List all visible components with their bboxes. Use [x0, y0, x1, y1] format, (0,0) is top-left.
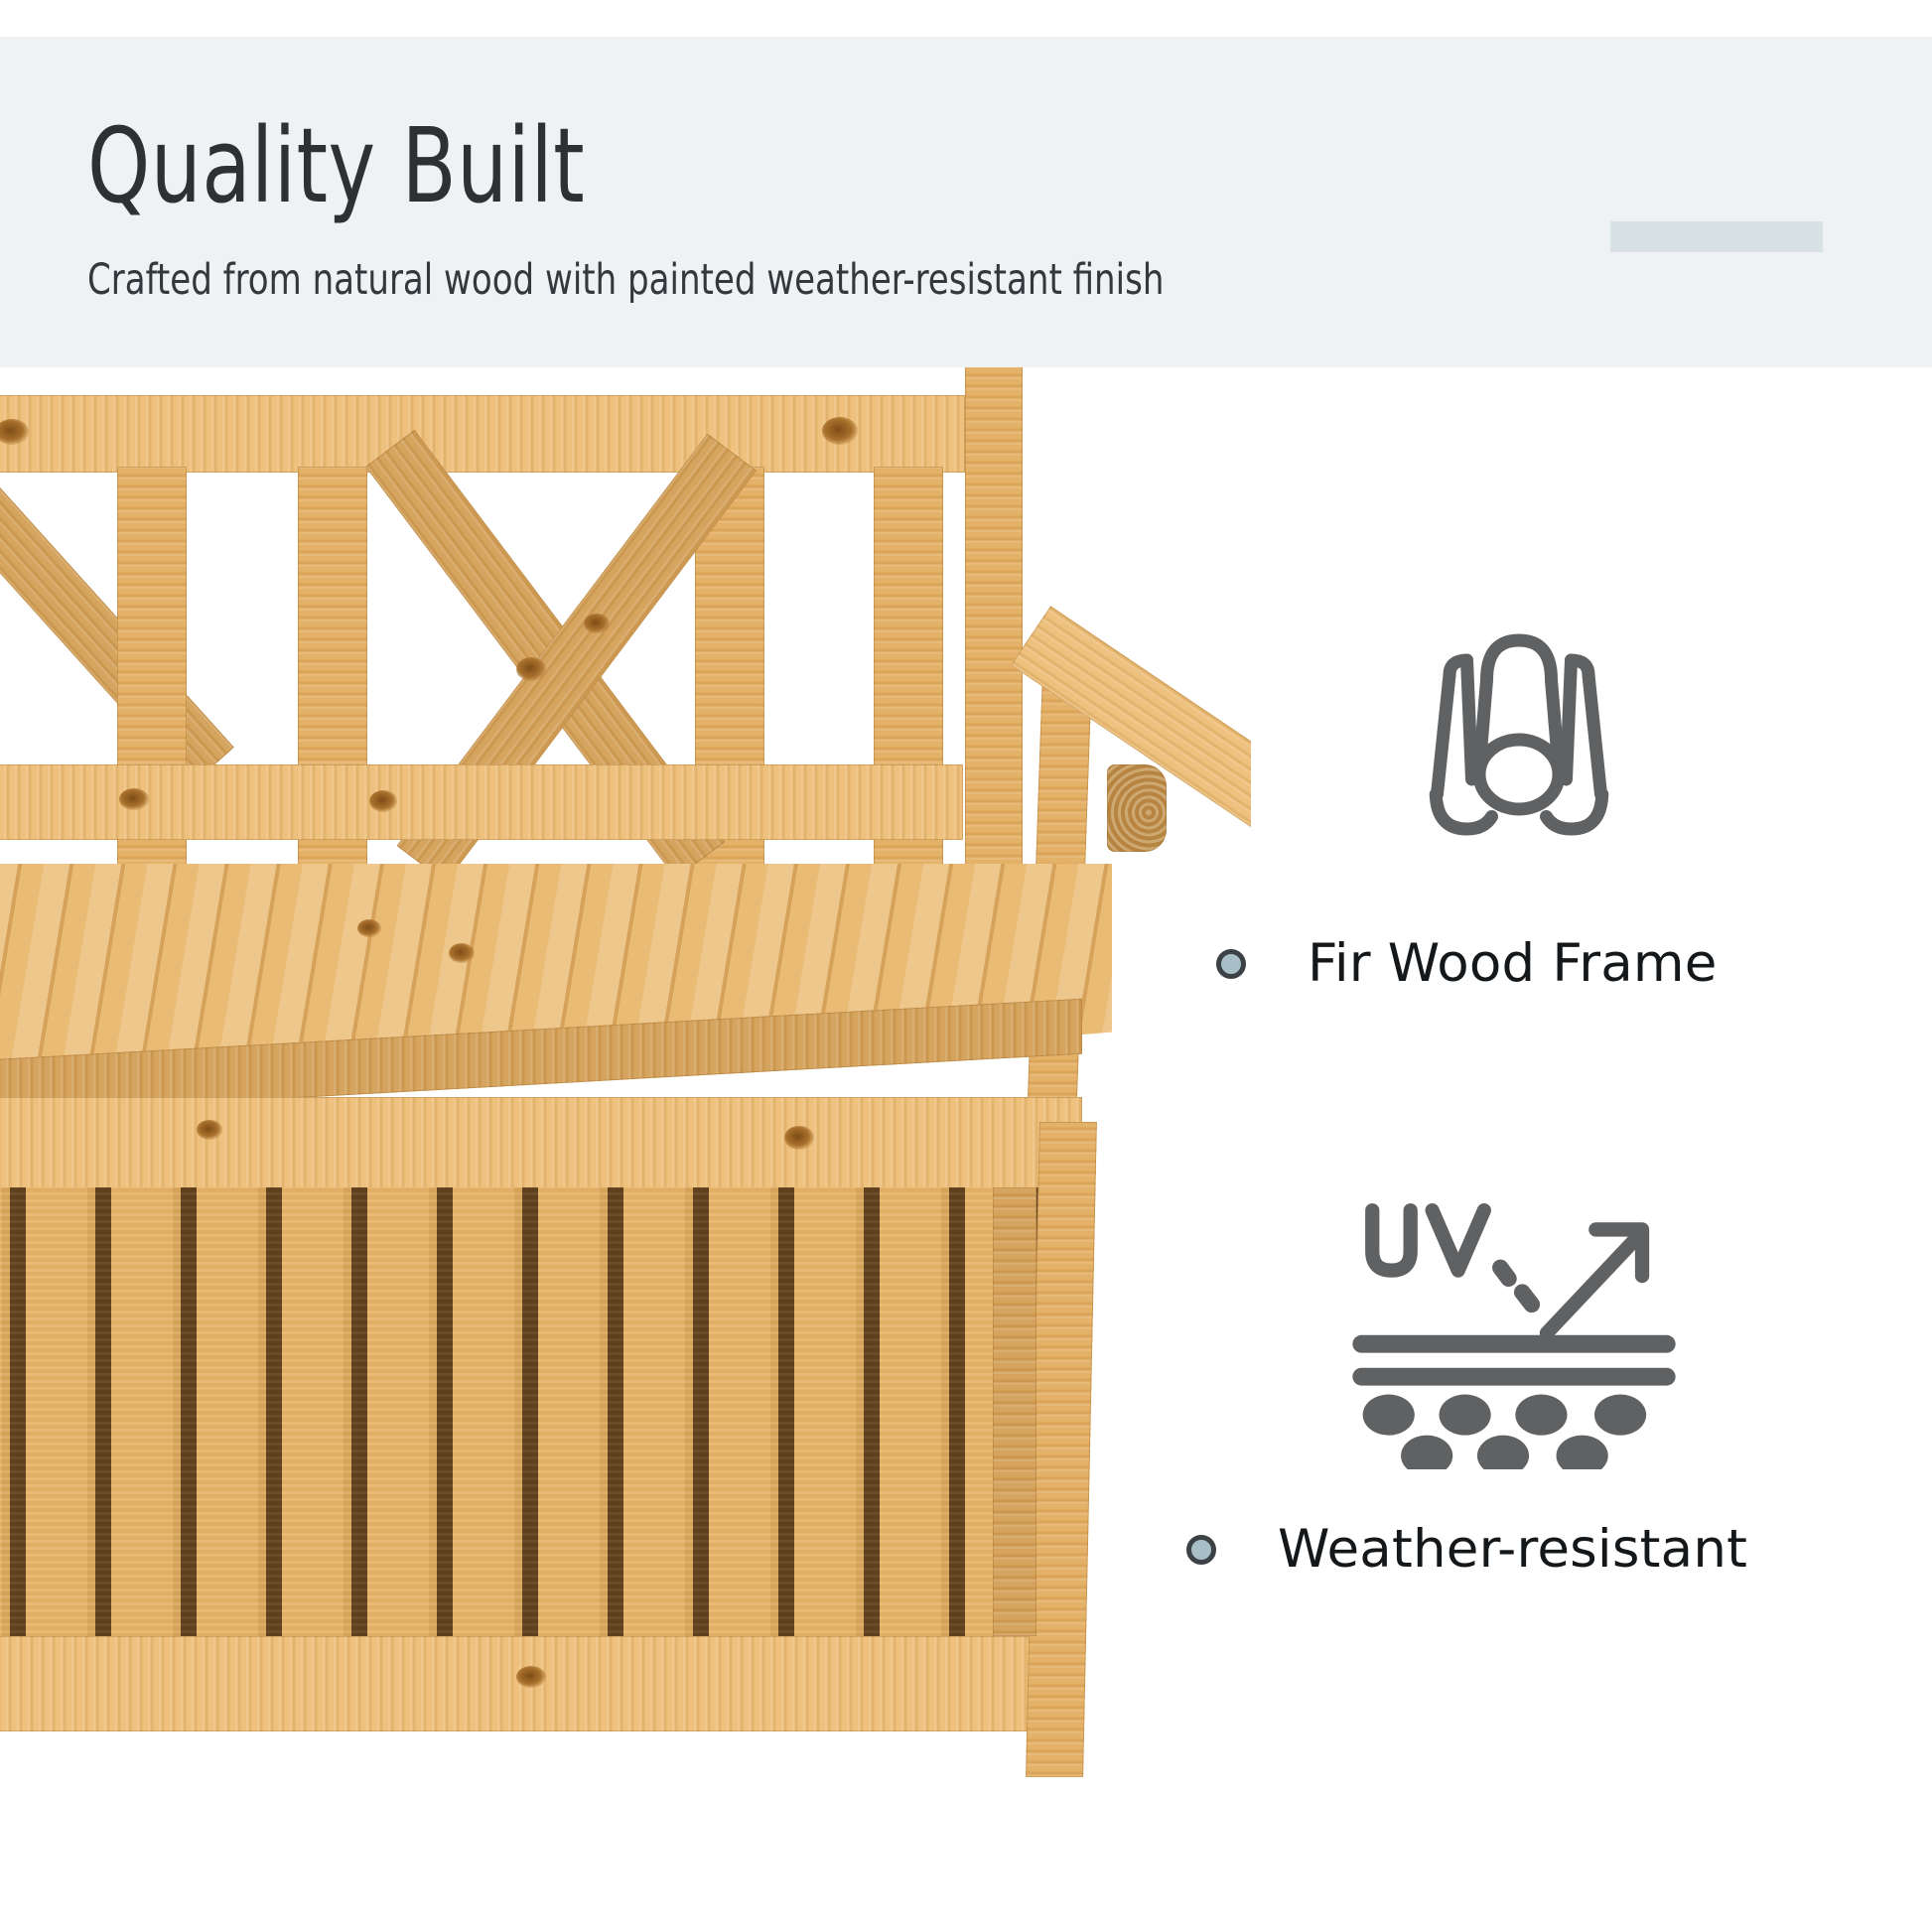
front-slat-panel: [0, 1187, 1082, 1654]
page-title: Quality Built: [87, 114, 585, 217]
wood-knot: [822, 417, 858, 445]
wood-knot: [784, 1126, 814, 1150]
box-top-rail: [0, 1097, 1082, 1192]
feature-list: Fir Wood Frame: [1216, 596, 1911, 1648]
backrest-top-rail: [0, 395, 965, 473]
wood-knot: [516, 1666, 546, 1688]
wood-knot: [516, 657, 546, 681]
product-feature-banner: Quality Built Crafted from natural wood …: [0, 0, 1932, 1932]
bullet-icon: [1186, 1535, 1216, 1565]
box-bottom-rail: [0, 1636, 1033, 1731]
wood-knot: [449, 943, 475, 963]
wood-logs-icon: [1370, 596, 1668, 864]
bullet-icon: [1216, 949, 1246, 979]
armrest-end-cap: [1107, 764, 1167, 852]
wood-knot: [357, 919, 381, 937]
page-subtitle: Crafted from natural wood with painted w…: [87, 257, 1164, 304]
wood-knot: [369, 790, 397, 812]
header-accent-bar: [1610, 221, 1823, 252]
feature-label-row: Fir Wood Frame: [1216, 933, 1911, 994]
bench-side-panel: [993, 1187, 1036, 1636]
feature-label: Fir Wood Frame: [1308, 933, 1718, 994]
wood-knot: [119, 788, 149, 810]
backrest-rear-post: [965, 367, 1023, 903]
feature-label: Weather-resistant: [1278, 1519, 1747, 1580]
product-photo: [0, 367, 1251, 1932]
uv-resistant-icon: [1335, 1181, 1693, 1479]
wood-knot: [584, 614, 610, 633]
wood-knot: [197, 1120, 222, 1140]
feature-label-row: Weather-resistant: [1186, 1519, 1881, 1580]
header-band: Quality Built Crafted from natural wood …: [0, 37, 1932, 367]
